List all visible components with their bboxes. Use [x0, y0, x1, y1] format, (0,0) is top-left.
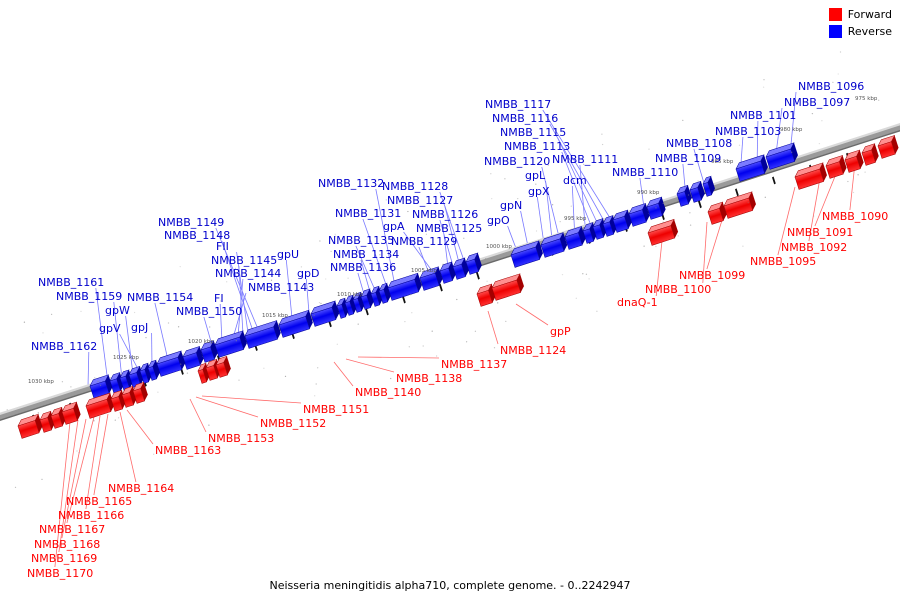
gene-label[interactable]: NMBB_1127 — [387, 195, 453, 206]
gene-label[interactable]: NMBB_1092 — [781, 242, 847, 253]
gene-label[interactable]: NMBB_1161 — [38, 277, 104, 288]
gene-label[interactable]: NMBB_1131 — [335, 208, 401, 219]
gene-label[interactable]: dcm — [563, 175, 587, 186]
axis-tick-label: 1005 kbp — [411, 268, 437, 274]
gene-label[interactable]: NMBB_1117 — [485, 99, 551, 110]
axis-tick-label: 975 kbp — [855, 96, 877, 102]
gene-label[interactable]: NMBB_1101 — [730, 110, 796, 121]
gene-label[interactable]: NMBB_1125 — [416, 223, 482, 234]
gene-label[interactable]: NMBB_1111 — [552, 154, 618, 165]
axis-tick-label: 990 kbp — [637, 190, 659, 196]
gene-label[interactable]: gpA — [383, 221, 405, 232]
gene-label[interactable]: gpD — [297, 268, 319, 279]
gene-label[interactable]: NMBB_1168 — [34, 539, 100, 550]
gene-label[interactable]: NMBB_1134 — [333, 249, 399, 260]
gene-label[interactable]: NMBB_1151 — [303, 404, 369, 415]
gene-label[interactable]: gpL — [525, 170, 545, 181]
gene-label[interactable]: NMBB_1165 — [66, 496, 132, 507]
gene-label[interactable]: NMBB_1169 — [31, 553, 97, 564]
gene-label[interactable]: NMBB_1116 — [492, 113, 558, 124]
gene-label[interactable]: NMBB_1095 — [750, 256, 816, 267]
gene-label[interactable]: NMBB_1153 — [208, 433, 274, 444]
legend-label-reverse: Reverse — [848, 25, 892, 38]
legend-label-forward: Forward — [848, 8, 892, 21]
axis-tick-label: 1020 kbp — [188, 339, 214, 345]
gene-label[interactable]: NMBB_1091 — [787, 227, 853, 238]
gene-label[interactable]: NMBB_1110 — [612, 167, 678, 178]
gene-label[interactable]: gpW — [105, 305, 130, 316]
axis-tick-label: 995 kbp — [564, 216, 586, 222]
gene-label[interactable]: NMBB_1120 — [484, 156, 550, 167]
gene-label[interactable]: FII — [216, 241, 229, 252]
gene-label[interactable]: NMBB_1135 — [328, 235, 394, 246]
gene-label[interactable]: NMBB_1152 — [260, 418, 326, 429]
gene-label[interactable]: NMBB_1162 — [31, 341, 97, 352]
gene-label[interactable]: NMBB_1108 — [666, 138, 732, 149]
gene-label[interactable]: NMBB_1149 — [158, 217, 224, 228]
gene-label[interactable]: NMBB_1148 — [164, 230, 230, 241]
gene-label[interactable]: NMBB_1138 — [396, 373, 462, 384]
forward-strand-genes — [16, 135, 900, 438]
gene-label[interactable]: NMBB_1115 — [500, 127, 566, 138]
legend: Forward Reverse — [829, 8, 892, 42]
gene-label[interactable]: NMBB_1140 — [355, 387, 421, 398]
forward-swatch — [829, 8, 842, 21]
genome-map-canvas: 1030 kbp1025 kbp1020 kbp1015 kbp1010 kbp… — [0, 0, 900, 600]
axis-tick-label: 1000 kbp — [486, 244, 512, 250]
gene-label[interactable]: NMBB_1166 — [58, 510, 124, 521]
gene-label[interactable]: NMBB_1090 — [822, 211, 888, 222]
gene-label[interactable]: gpJ — [131, 322, 148, 333]
legend-item-reverse: Reverse — [829, 25, 892, 38]
gene-label[interactable]: NMBB_1145 — [211, 255, 277, 266]
gene-label[interactable]: NMBB_1100 — [645, 284, 711, 295]
gene-label[interactable]: gpN — [500, 200, 522, 211]
gene-label[interactable]: NMBB_1124 — [500, 345, 566, 356]
gene-label[interactable]: NMBB_1137 — [441, 359, 507, 370]
axis-tick-label: 980 kbp — [780, 127, 802, 133]
gene-label[interactable]: FI — [214, 293, 224, 304]
axis-tick-label: 1030 kbp — [28, 379, 54, 385]
axis-tick-label: 1010 kbp — [337, 292, 363, 298]
gene-label[interactable]: NMBB_1103 — [715, 126, 781, 137]
gene-label[interactable]: NMBB_1132 — [318, 178, 384, 189]
gene-label[interactable]: NMBB_1164 — [108, 483, 174, 494]
gene-label[interactable]: NMBB_1150 — [176, 306, 242, 317]
gene-label[interactable]: NMBB_1109 — [655, 153, 721, 164]
axis-tick-label: 1025 kbp — [113, 355, 139, 361]
figure-caption: Neisseria meningitidis alpha710, complet… — [0, 579, 900, 592]
gene-label[interactable]: NMBB_1144 — [215, 268, 281, 279]
gene-label[interactable]: NMBB_1163 — [155, 445, 221, 456]
gene-label[interactable]: NMBB_1136 — [330, 262, 396, 273]
gene-label[interactable]: gpO — [487, 215, 510, 226]
gene-label[interactable]: NMBB_1167 — [39, 524, 105, 535]
gene-label[interactable]: NMBB_1096 — [798, 81, 864, 92]
gene-label[interactable]: gpX — [528, 186, 550, 197]
gene-label[interactable]: NMBB_1126 — [412, 209, 478, 220]
gene-label[interactable]: gpP — [550, 326, 571, 337]
label-leader-lines — [55, 92, 855, 567]
gene-label[interactable]: NMBB_1128 — [382, 181, 448, 192]
gene-label[interactable]: NMBB_1099 — [679, 270, 745, 281]
gene-label[interactable]: dnaQ-1 — [617, 297, 658, 308]
reverse-swatch — [829, 25, 842, 38]
gene-label[interactable]: gpV — [99, 323, 121, 334]
gene-label[interactable]: NMBB_1154 — [127, 292, 193, 303]
axis-tick-label: 1015 kbp — [262, 313, 288, 319]
gene-label[interactable]: NMBB_1129 — [391, 236, 457, 247]
gene-label[interactable]: NMBB_1113 — [504, 141, 570, 152]
legend-item-forward: Forward — [829, 8, 892, 21]
gene-label[interactable]: gpU — [277, 249, 299, 260]
gene-label[interactable]: NMBB_1097 — [784, 97, 850, 108]
gene-label[interactable]: NMBB_1143 — [248, 282, 314, 293]
gene-label[interactable]: NMBB_1159 — [56, 291, 122, 302]
gene-label[interactable]: NMBB_1170 — [27, 568, 93, 579]
